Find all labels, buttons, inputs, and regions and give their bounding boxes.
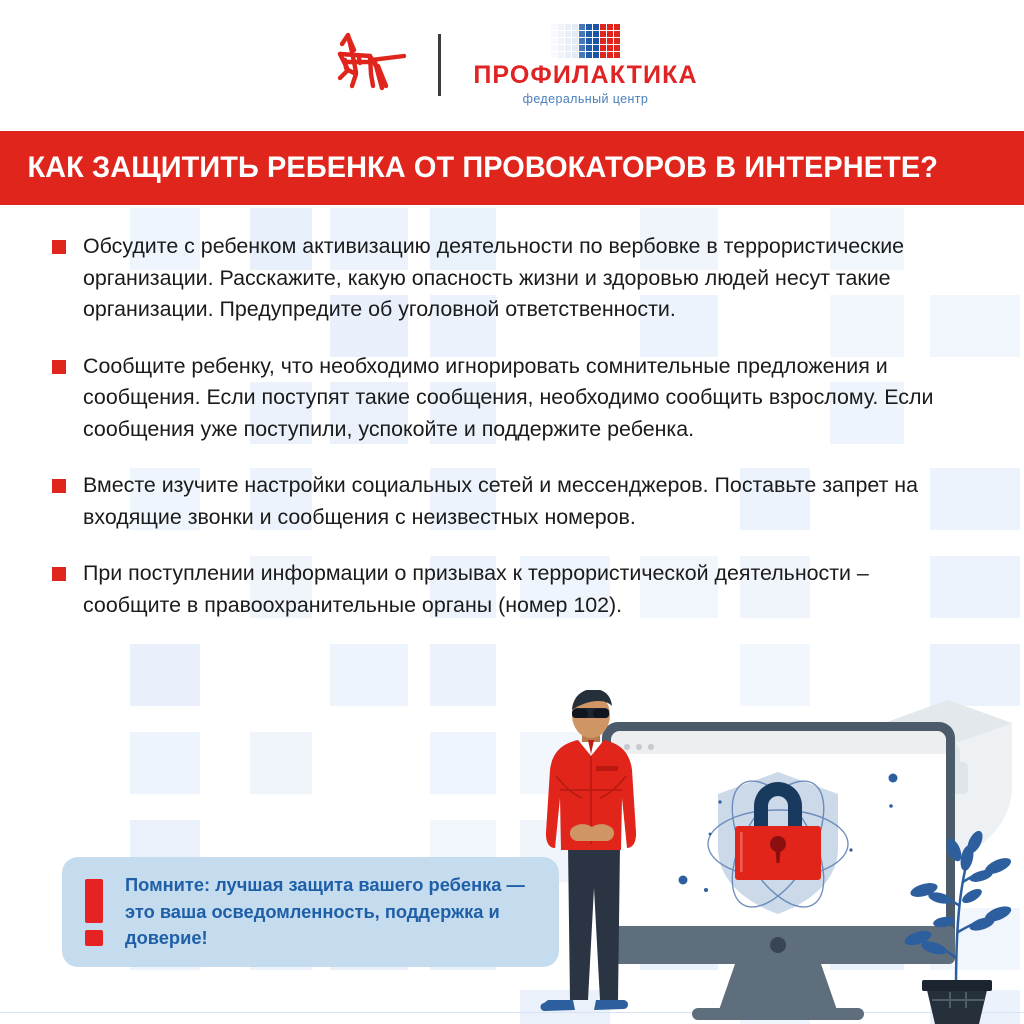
- brand-lockup: ПРОФИЛАКТИКА федеральный центр: [467, 24, 697, 105]
- list-item-text: При поступлении информации о призывах к …: [83, 558, 963, 621]
- list-item-text: Вместе изучите настройки социальных сете…: [83, 470, 963, 533]
- bullet-square-icon: [52, 567, 66, 581]
- flag-pixel-grid-icon: [551, 24, 619, 57]
- brand-subtitle: федеральный центр: [523, 92, 649, 106]
- bullet-square-icon: [52, 240, 66, 254]
- bullet-square-icon: [52, 479, 66, 493]
- bullet-square-icon: [52, 360, 66, 374]
- logo-divider: [438, 34, 441, 96]
- page-title: КАК ЗАЩИТИТЬ РЕБЕНКА ОТ ПРОВОКАТОРОВ В И…: [0, 151, 938, 185]
- list-item: Вместе изучите настройки социальных сете…: [52, 470, 984, 533]
- list-item-text: Обсудите с ребенком активизацию деятельн…: [83, 231, 963, 326]
- reminder-text: Помните: лучшая защита вашего ребенка — …: [125, 872, 537, 952]
- exclamation-mark-icon: [84, 879, 103, 946]
- reminder-callout: Помните: лучшая защита вашего ребенка — …: [62, 857, 559, 967]
- brand-name: ПРОФИЛАКТИКА: [473, 63, 697, 88]
- header: ПРОФИЛАКТИКА федеральный центр: [0, 0, 1024, 130]
- list-item: Обсудите с ребенком активизацию деятельн…: [52, 231, 984, 326]
- list-item: Сообщите ребенку, что необходимо игнорир…: [52, 351, 984, 446]
- poster-root: ПРОФИЛАКТИКА федеральный центр КАК ЗАЩИТ…: [0, 0, 1024, 1024]
- logo-row: ПРОФИЛАКТИКА федеральный центр: [326, 24, 697, 105]
- advice-list: Обсудите с ребенком активизацию деятельн…: [0, 205, 1024, 646]
- chair-line-art-icon: [326, 26, 412, 104]
- browser-dots-icon: [624, 744, 654, 750]
- list-item-text: Сообщите ребенку, что необходимо игнорир…: [83, 351, 963, 446]
- list-item: При поступлении информации о призывах к …: [52, 558, 984, 621]
- headline-banner: КАК ЗАЩИТИТЬ РЕБЕНКА ОТ ПРОВОКАТОРОВ В И…: [0, 131, 1024, 205]
- man-with-monitor-security-scene: [520, 690, 1024, 1024]
